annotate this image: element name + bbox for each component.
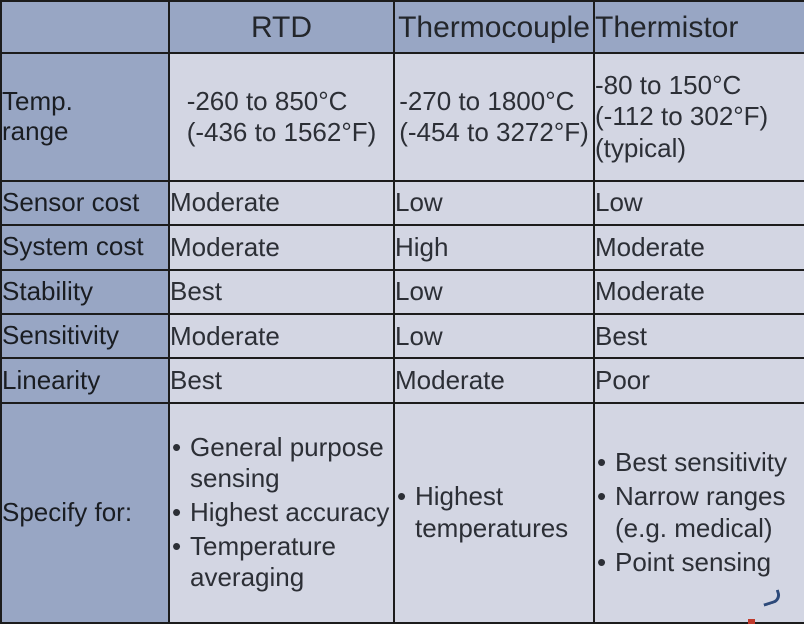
list-item: • Narrow ranges (e.g. medical) [595,481,804,544]
temp-range-thermocouple-celsius: -270 to 1800°C [399,86,574,116]
bullet-icon: • [397,481,406,513]
cell-system-cost-thermocouple: High [394,225,594,269]
cell-sensor-cost-thermistor: Low [594,181,804,225]
cell-system-cost-rtd: Moderate [169,225,394,269]
cell-sensor-cost-rtd: Moderate [169,181,394,225]
header-thermistor: Thermistor [594,1,804,53]
temp-range-thermistor-fahrenheit: (-112 to 302°F) [595,101,768,131]
bullet-text-line-1: Narrow ranges [615,481,804,513]
row-label-stability: Stability [1,270,169,314]
list-item: • Temperature averaging [170,531,393,594]
table-row-stability: Stability Best Low Moderate [1,270,804,314]
list-item: • General purpose sensing [170,432,393,495]
list-item: • Highest accuracy [170,497,393,529]
row-label-sensitivity: Sensitivity [1,314,169,358]
cell-specify-for-thermocouple: • Highest temperatures [394,403,594,623]
cell-stability-thermocouple: Low [394,270,594,314]
cell-sensitivity-thermocouple: Low [394,314,594,358]
row-label-line-1: Temp. [2,86,73,116]
cell-temp-range-thermocouple: -270 to 1800°C (-454 to 3272°F) [394,53,594,181]
temp-range-thermocouple-fahrenheit: (-454 to 3272°F) [399,117,589,147]
cell-linearity-rtd: Best [169,358,394,402]
cell-sensor-cost-thermocouple: Low [394,181,594,225]
bullet-icon: • [172,497,181,529]
temp-range-rtd-celsius: -260 to 850°C [187,86,348,116]
bullet-text-line-1: Point sensing [615,547,804,579]
cell-stability-rtd: Best [169,270,394,314]
row-label-temp-range: Temp. range [1,53,169,181]
row-label-system-cost: System cost [1,225,169,269]
cell-stability-thermistor: Moderate [594,270,804,314]
cell-sensitivity-rtd: Moderate [169,314,394,358]
temp-range-thermistor-note: (typical) [595,133,686,163]
header-thermocouple: Thermocouple [394,1,594,53]
cell-specify-for-rtd: • General purpose sensing • Highest accu… [169,403,394,623]
bullet-text-line-2: temperatures [415,513,593,545]
table-row-sensitivity: Sensitivity Moderate Low Best [1,314,804,358]
bullet-text-line-1: Highest [415,481,593,513]
temp-range-rtd-fahrenheit: (-436 to 1562°F) [187,117,377,147]
cell-linearity-thermistor: Poor [594,358,804,402]
bullet-text-line-2: (e.g. medical) [615,513,804,545]
header-rtd: RTD [169,1,394,53]
cell-sensitivity-thermistor: Best [594,314,804,358]
cell-linearity-thermocouple: Moderate [394,358,594,402]
cell-temp-range-rtd: -260 to 850°C (-436 to 1562°F) [169,53,394,181]
row-label-specify-for: Specify for: [1,403,169,623]
table-row-linearity: Linearity Best Moderate Poor [1,358,804,402]
bullet-text-line-1: Highest accuracy [190,497,393,529]
bullet-icon: • [597,547,606,579]
bullet-list-thermistor: • Best sensitivity • Narrow ranges (e.g.… [595,447,804,578]
list-item: • Best sensitivity [595,447,804,479]
bullet-text-line-1: Temperature [190,531,393,563]
temp-range-thermistor-celsius: -80 to 150°C [595,70,741,100]
sensor-comparison-table: RTD Thermocouple Thermistor Temp. range … [0,0,804,624]
bullet-text-line-2: averaging [190,562,393,594]
row-label-sensor-cost: Sensor cost [1,181,169,225]
bullet-text-line-2: sensing [190,463,393,495]
bullet-text-line-1: Best sensitivity [615,447,804,479]
row-label-linearity: Linearity [1,358,169,402]
table-row-temp-range: Temp. range -260 to 850°C (-436 to 1562°… [1,53,804,181]
bullet-list-rtd: • General purpose sensing • Highest accu… [170,432,393,595]
stray-red-mark [748,619,755,624]
bullet-text-line-1: General purpose [190,432,393,464]
cell-system-cost-thermistor: Moderate [594,225,804,269]
table-row-system-cost: System cost Moderate High Moderate [1,225,804,269]
bullet-icon: • [597,481,606,513]
table-header-row: RTD Thermocouple Thermistor [1,1,804,53]
bullet-icon: • [172,432,181,464]
table-row-sensor-cost: Sensor cost Moderate Low Low [1,181,804,225]
list-item: • Point sensing [595,547,804,579]
list-item: • Highest temperatures [395,481,593,544]
cell-temp-range-thermistor: -80 to 150°C (-112 to 302°F) (typical) [594,53,804,181]
cell-specify-for-thermistor: • Best sensitivity • Narrow ranges (e.g.… [594,403,804,623]
bullet-icon: • [172,531,181,563]
table-row-specify-for: Specify for: • General purpose sensing •… [1,403,804,623]
bullet-icon: • [597,447,606,479]
corner-header [1,1,169,53]
row-label-line-2: range [2,116,69,146]
bullet-list-thermocouple: • Highest temperatures [395,481,593,544]
